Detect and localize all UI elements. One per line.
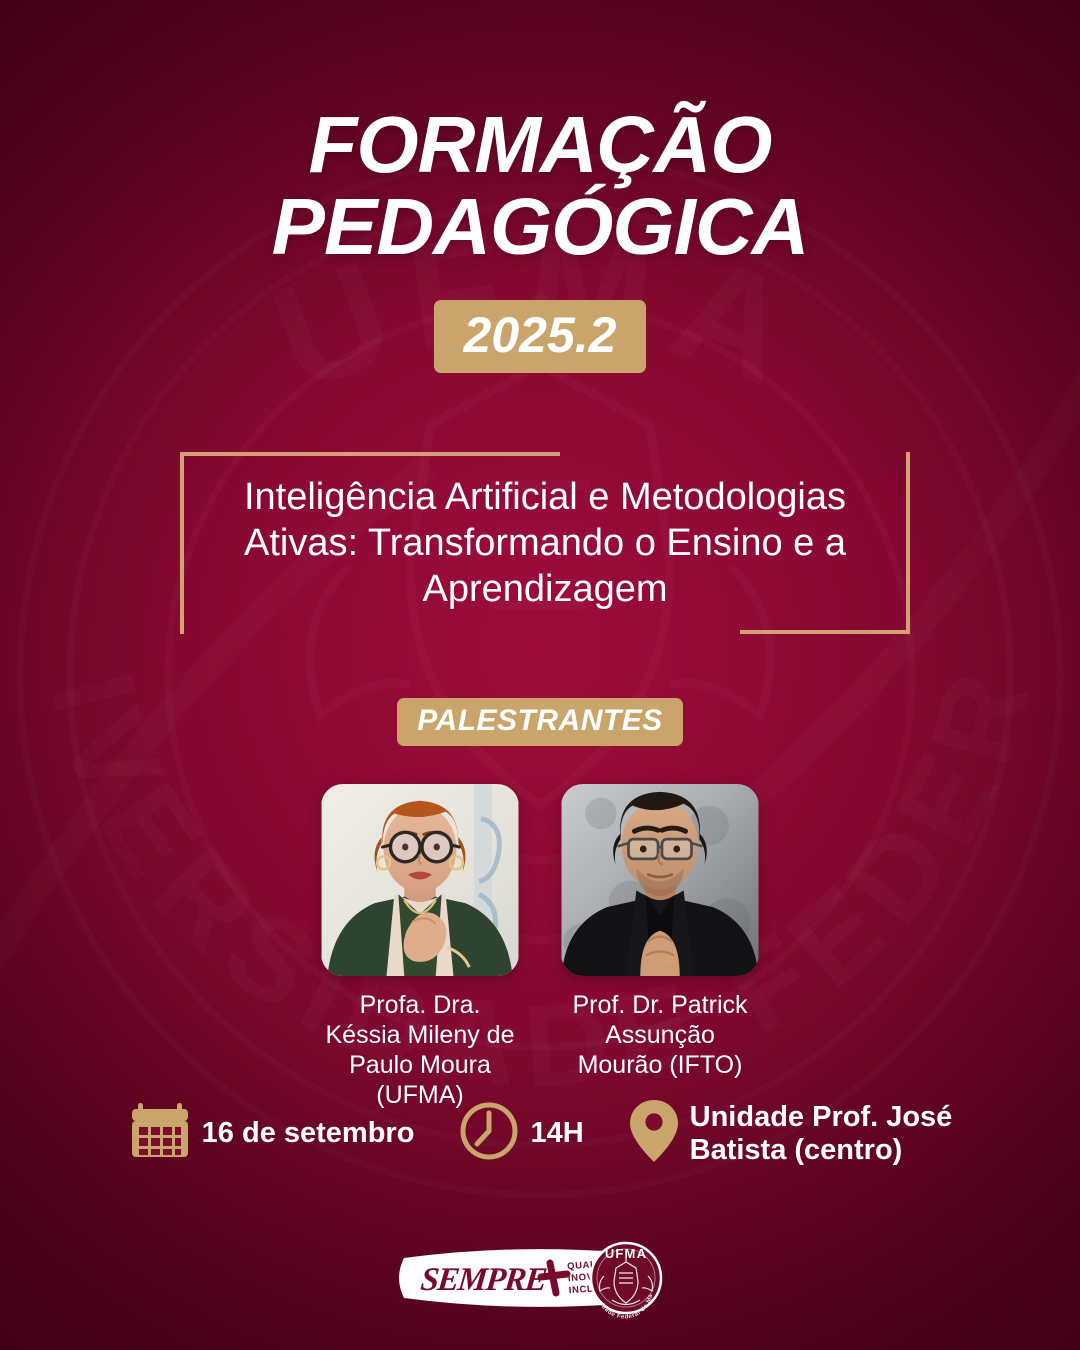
info-item-date: 16 de setembro <box>128 1099 415 1168</box>
svg-text:SEMPRE: SEMPRE <box>419 1262 548 1298</box>
speaker-photo-kessia <box>321 784 519 976</box>
calendar-icon <box>128 1099 192 1168</box>
speakers-label-row: PALESTRANTES <box>0 698 1080 746</box>
event-info-bar: 16 de setembro 14H Unidade Prof. José Ba… <box>0 1098 1080 1169</box>
speaker-name: Profa. Dra. Késsia Mileny de Paulo Moura… <box>321 990 519 1110</box>
event-poster: UFMA UNIVERSIDADE FEDERAL FOR <box>0 0 1080 1350</box>
subtitle-frame: Inteligência Artificial e Metodologias A… <box>180 452 910 634</box>
speakers-list: Profa. Dra. Késsia Mileny de Paulo Moura… <box>0 784 1080 1110</box>
year-badge: 2025.2 <box>434 300 647 373</box>
event-date-text: 16 de setembro <box>202 1117 415 1150</box>
speakers-badge: PALESTRANTES <box>397 698 682 746</box>
title-line-2: PEDAGÓGICA <box>0 186 1080 268</box>
event-time-text: 14H <box>530 1117 583 1150</box>
footer-logo-group: SEMPRE QUALIDADE INOVAÇÃO INCLUSÃO UFMA <box>390 1230 690 1326</box>
location-pin-icon <box>628 1098 680 1169</box>
title-line-1: FORMAÇÃO <box>0 104 1080 186</box>
event-location-text: Unidade Prof. José Batista (centro) <box>690 1101 953 1167</box>
info-item-location: Unidade Prof. José Batista (centro) <box>628 1098 953 1169</box>
subtitle-text: Inteligência Artificial e Metodologias A… <box>180 474 910 612</box>
clock-icon <box>458 1100 520 1167</box>
speaker-name: Prof. Dr. Patrick Assunção Mourão (IFTO) <box>561 990 759 1080</box>
poster-footer: SEMPRE QUALIDADE INOVAÇÃO INCLUSÃO UFMA <box>0 1230 1080 1326</box>
speaker-photo-patrick <box>561 784 759 976</box>
speaker-card: Prof. Dr. Patrick Assunção Mourão (IFTO) <box>561 784 759 1110</box>
poster-header: FORMAÇÃO PEDAGÓGICA 2025.2 <box>0 104 1080 373</box>
speaker-card: Profa. Dra. Késsia Mileny de Paulo Moura… <box>321 784 519 1110</box>
info-item-time: 14H <box>458 1100 583 1167</box>
